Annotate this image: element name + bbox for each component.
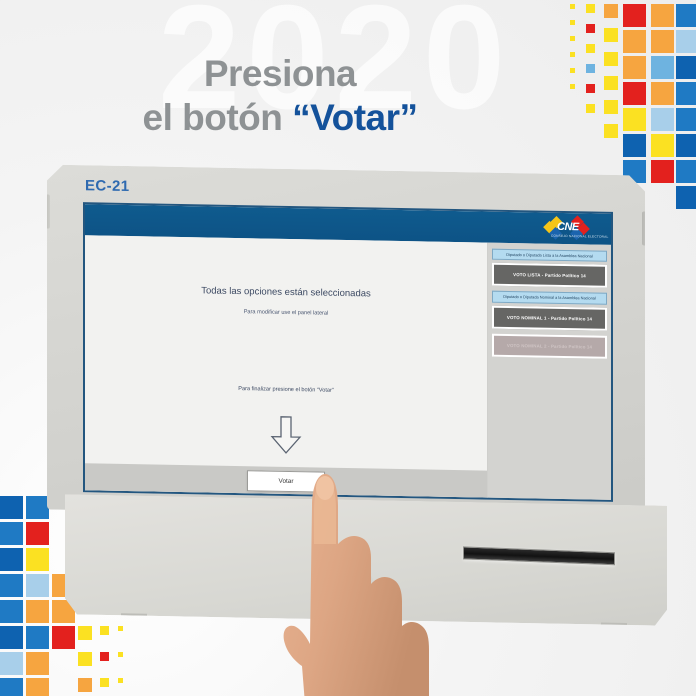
modify-hint-message: Para modificar use el panel lateral bbox=[85, 306, 487, 319]
mosaic-tile bbox=[0, 678, 23, 696]
mosaic-tile bbox=[676, 4, 696, 27]
mosaic-tile bbox=[118, 652, 123, 657]
mosaic-tile bbox=[676, 186, 696, 209]
mosaic-tile bbox=[78, 626, 92, 640]
headline-line-2-accent: “Votar” bbox=[292, 97, 417, 138]
mosaic-tile bbox=[651, 82, 674, 105]
mosaic-tile bbox=[651, 134, 674, 157]
headline-line-2-prefix: el botón bbox=[143, 97, 293, 138]
mosaic-tile bbox=[26, 548, 49, 571]
mosaic-tile bbox=[623, 30, 646, 53]
logo-text: CNE bbox=[557, 221, 579, 233]
mosaic-tile bbox=[623, 82, 646, 105]
mosaic-tile bbox=[604, 52, 618, 66]
mosaic-tile bbox=[0, 652, 23, 675]
mosaic-tile bbox=[623, 134, 646, 157]
sidebar-option-nominal-2[interactable]: VOTO NOMINAL 2 - Partido Político 14 bbox=[492, 333, 607, 358]
selection-complete-message: Todas las opciones están seleccionadas bbox=[85, 283, 487, 301]
mosaic-tile bbox=[623, 4, 646, 27]
mosaic-tile bbox=[26, 574, 49, 597]
finish-hint-message: Para finalizar presione el botón “Votar” bbox=[85, 383, 487, 396]
hinge-right bbox=[642, 211, 649, 245]
headline-line-1: Presiona bbox=[204, 53, 356, 94]
screen-canvas: Todas las opciones están seleccionadas P… bbox=[85, 235, 488, 501]
mosaic-tile bbox=[623, 108, 646, 131]
selection-sidebar: Diputado o Diputada Lista a la Asamblea … bbox=[488, 243, 611, 502]
mosaic-tile bbox=[676, 160, 696, 183]
mosaic-tile bbox=[676, 108, 696, 131]
machine-screen: CNE CONSEJO NACIONAL ELECTORAL Todas las… bbox=[83, 202, 613, 502]
sidebar-group-header-1: Diputado o Diputada Nominal a la Asamble… bbox=[492, 291, 607, 304]
mosaic-tile bbox=[570, 84, 575, 89]
sidebar-option-lista[interactable]: VOTO LISTA - Partido Político 14 bbox=[492, 263, 607, 288]
sidebar-group-header-0: Diputado o Diputada Lista a la Asamblea … bbox=[492, 249, 607, 262]
mosaic-tile bbox=[570, 20, 575, 25]
mosaic-tile bbox=[676, 134, 696, 157]
mosaic-tile bbox=[0, 600, 23, 623]
mosaic-tile bbox=[586, 84, 595, 93]
mosaic-tile bbox=[118, 678, 123, 683]
mosaic-tile bbox=[604, 28, 618, 42]
machine-foot-left bbox=[121, 613, 147, 621]
mosaic-tile bbox=[52, 626, 75, 649]
screen-body: Todas las opciones están seleccionadas P… bbox=[85, 235, 611, 502]
hinge-left bbox=[43, 194, 50, 228]
mosaic-tile bbox=[586, 64, 595, 73]
mosaic-tile bbox=[676, 30, 696, 53]
mosaic-tile bbox=[651, 4, 674, 27]
mosaic-tile bbox=[586, 44, 595, 53]
headline-line-2: el botón “Votar” bbox=[0, 96, 560, 140]
mosaic-tile bbox=[586, 104, 595, 113]
mosaic-tile bbox=[570, 4, 575, 9]
mosaic-tile bbox=[676, 56, 696, 79]
logo-subtitle: CONSEJO NACIONAL ELECTORAL bbox=[551, 234, 608, 239]
mosaic-tile bbox=[0, 522, 23, 545]
mosaic-tile bbox=[570, 68, 575, 73]
mosaic-tile bbox=[0, 574, 23, 597]
mosaic-tile bbox=[623, 56, 646, 79]
mosaic-tile bbox=[604, 100, 618, 114]
cne-logo: CNE CONSEJO NACIONAL ELECTORAL bbox=[543, 215, 599, 244]
paper-slot bbox=[463, 546, 615, 565]
mosaic-tile bbox=[100, 678, 109, 687]
mosaic-tile bbox=[118, 626, 123, 631]
mosaic-tile bbox=[651, 30, 674, 53]
mosaic-tile bbox=[570, 52, 575, 57]
mosaic-tile bbox=[26, 522, 49, 545]
arrow-down-icon bbox=[269, 415, 303, 461]
mosaic-tile bbox=[0, 496, 23, 519]
mosaic-tile bbox=[26, 496, 49, 519]
mosaic-tile bbox=[0, 626, 23, 649]
mosaic-tile bbox=[26, 600, 49, 623]
mosaic-tile bbox=[78, 678, 92, 692]
mosaic-tile bbox=[26, 652, 49, 675]
mosaic-tile bbox=[586, 24, 595, 33]
mosaic-tile bbox=[604, 4, 618, 18]
mosaic-tile bbox=[604, 124, 618, 138]
page-title: Presiona el botón “Votar” bbox=[0, 52, 560, 139]
mosaic-tile bbox=[604, 76, 618, 90]
mosaic-tile bbox=[0, 548, 23, 571]
mosaic-tile bbox=[570, 36, 575, 41]
mosaic-tile bbox=[586, 4, 595, 13]
mosaic-tile bbox=[100, 626, 109, 635]
mosaic-tile bbox=[676, 82, 696, 105]
mosaic-tile bbox=[26, 626, 49, 649]
sidebar-option-nominal-1[interactable]: VOTO NOMINAL 1 - Partido Político 14 bbox=[492, 305, 607, 330]
mosaic-tile bbox=[78, 652, 92, 666]
mosaic-tile bbox=[651, 108, 674, 131]
hand-pointing bbox=[272, 466, 462, 696]
mosaic-tile bbox=[651, 56, 674, 79]
mosaic-tile bbox=[100, 652, 109, 661]
mosaic-tile bbox=[26, 678, 49, 696]
machine-foot-right bbox=[601, 623, 627, 631]
machine-model-label: EC-21 bbox=[85, 177, 130, 195]
screenshot-root: 2020 Presiona el botón “Votar” EC-21 bbox=[0, 0, 696, 696]
